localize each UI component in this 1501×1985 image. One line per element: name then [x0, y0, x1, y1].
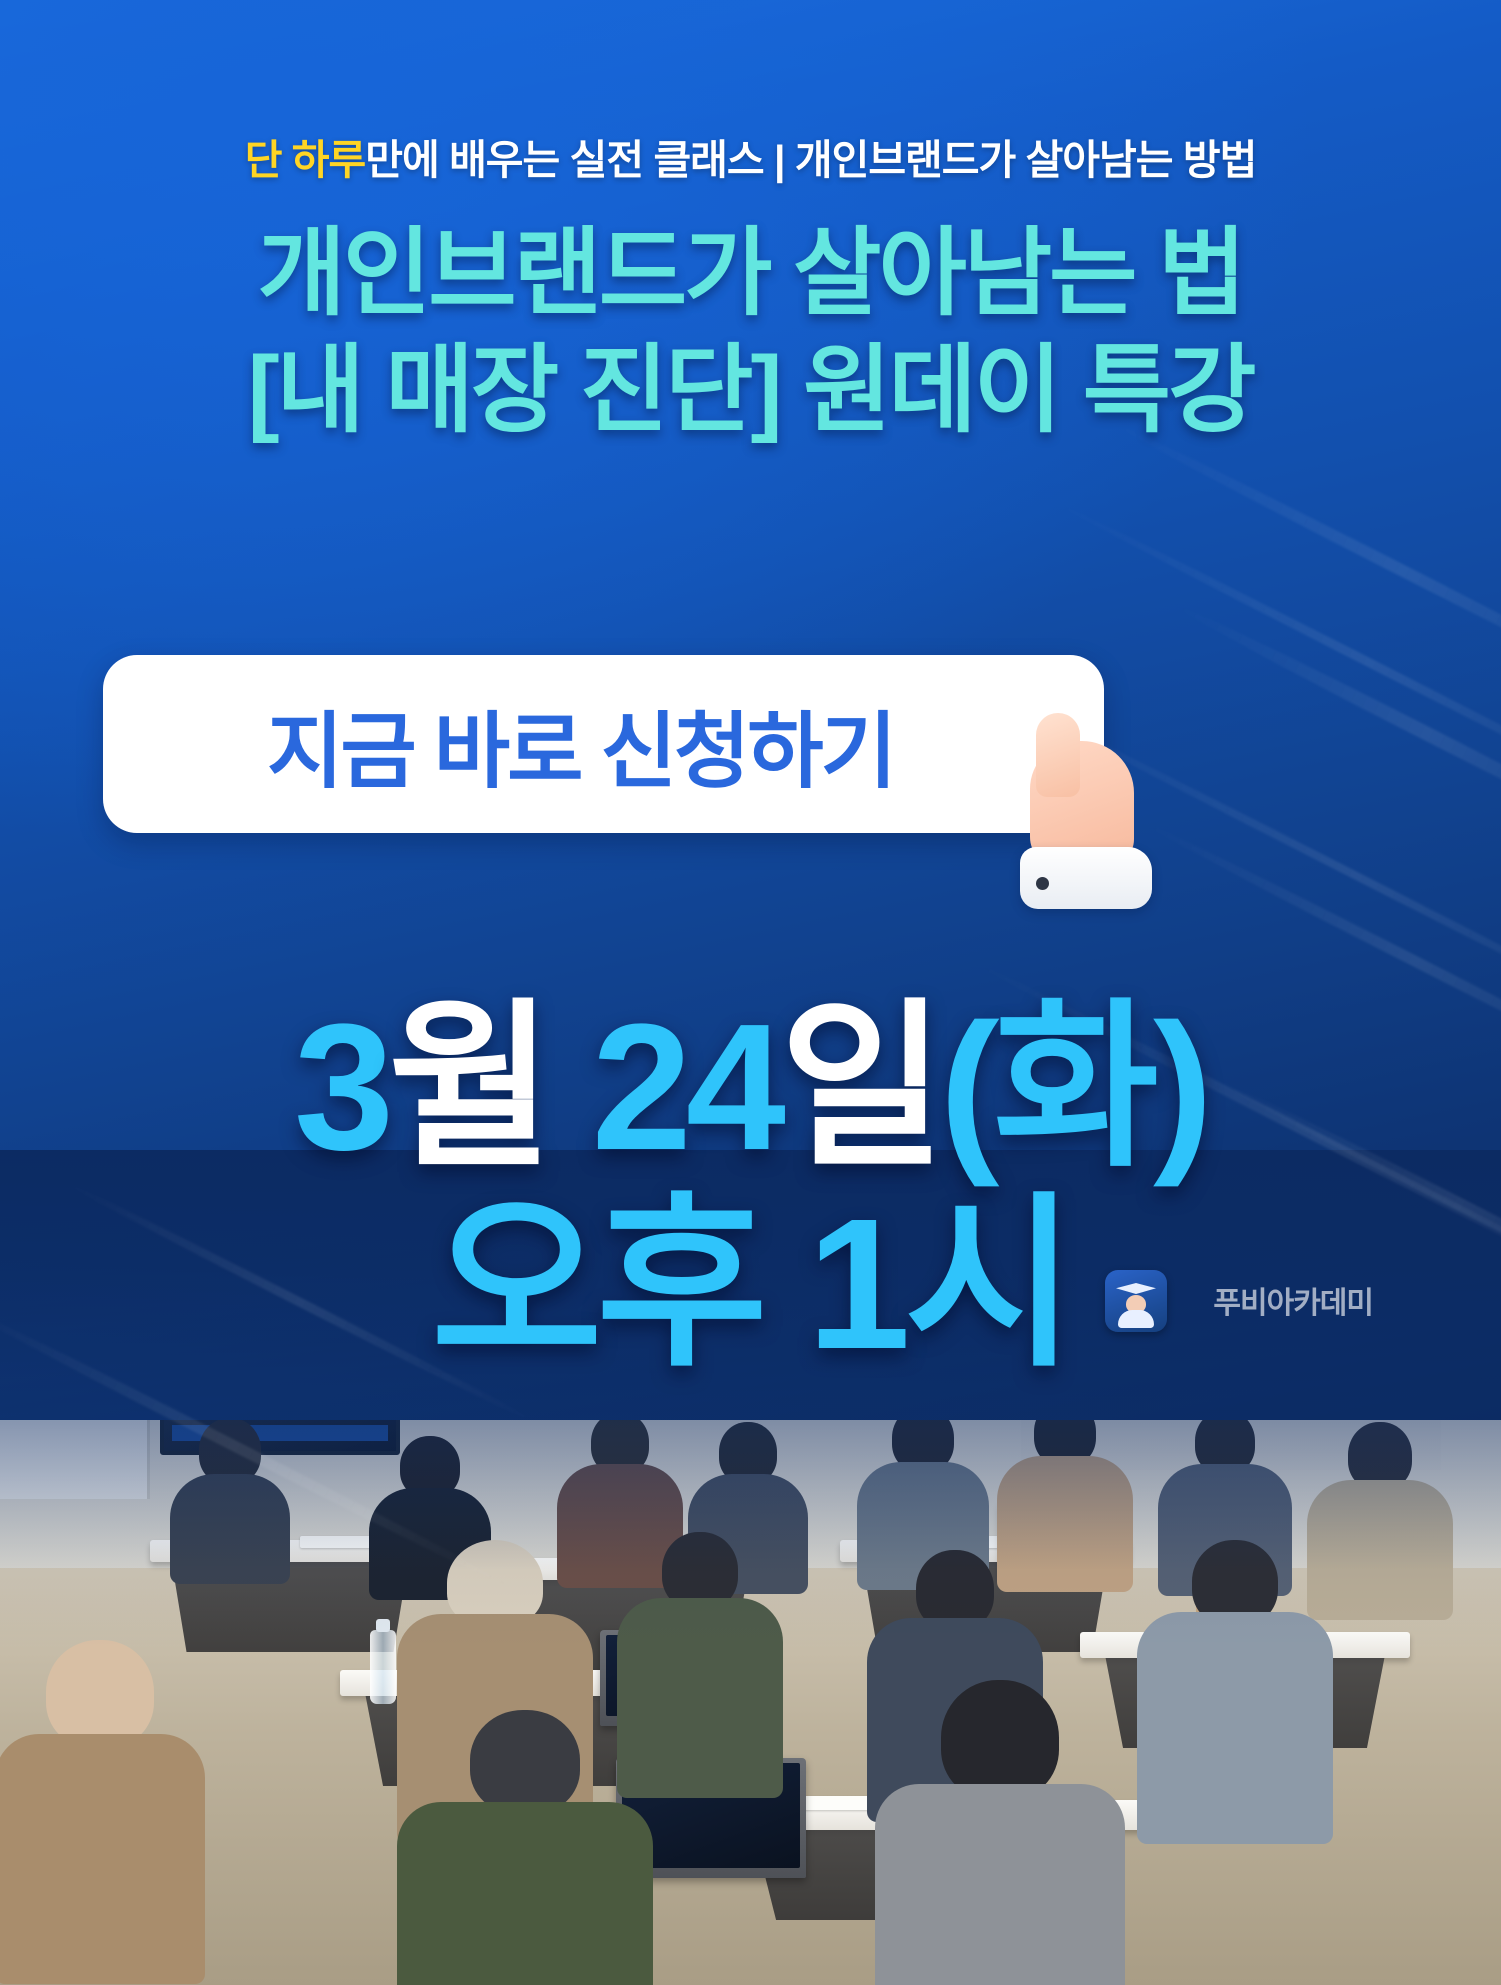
brand-name: 푸비아카데미	[1213, 1278, 1373, 1322]
graduate-avatar-icon	[1105, 1270, 1167, 1332]
schedule-date-line: 3월 24일(화)	[0, 1000, 1501, 1176]
eyebrow-highlight: 단 하루	[245, 137, 366, 183]
schedule-weekday: (화)	[940, 987, 1207, 1188]
promo-poster: 단 하루만에 배우는 실전 클래스 | 개인브랜드가 살아남는 방법 개인브랜드…	[0, 0, 1501, 1985]
eyebrow-rest: 만에 배우는 실전 클래스 | 개인브랜드가 살아남는 방법	[365, 137, 1256, 183]
schedule-day-number: 24	[592, 987, 780, 1188]
eyebrow-tagline: 단 하루만에 배우는 실전 클래스 | 개인브랜드가 살아남는 방법	[0, 126, 1501, 186]
title-line-2: [내 매장 진단] 원데이 특강	[0, 332, 1501, 449]
page-title: 개인브랜드가 살아남는 법 [내 매장 진단] 원데이 특강	[0, 215, 1501, 449]
apply-now-button[interactable]: 지금 바로 신청하기	[103, 655, 1104, 833]
schedule-month-number: 3	[294, 987, 388, 1188]
schedule-day-unit: 일	[780, 987, 940, 1188]
title-line-1: 개인브랜드가 살아남는 법	[0, 215, 1501, 332]
pointing-hand-icon	[1012, 701, 1182, 911]
schedule-month-unit: 월	[388, 987, 548, 1188]
apply-now-label: 지금 바로 신청하기	[267, 684, 940, 804]
